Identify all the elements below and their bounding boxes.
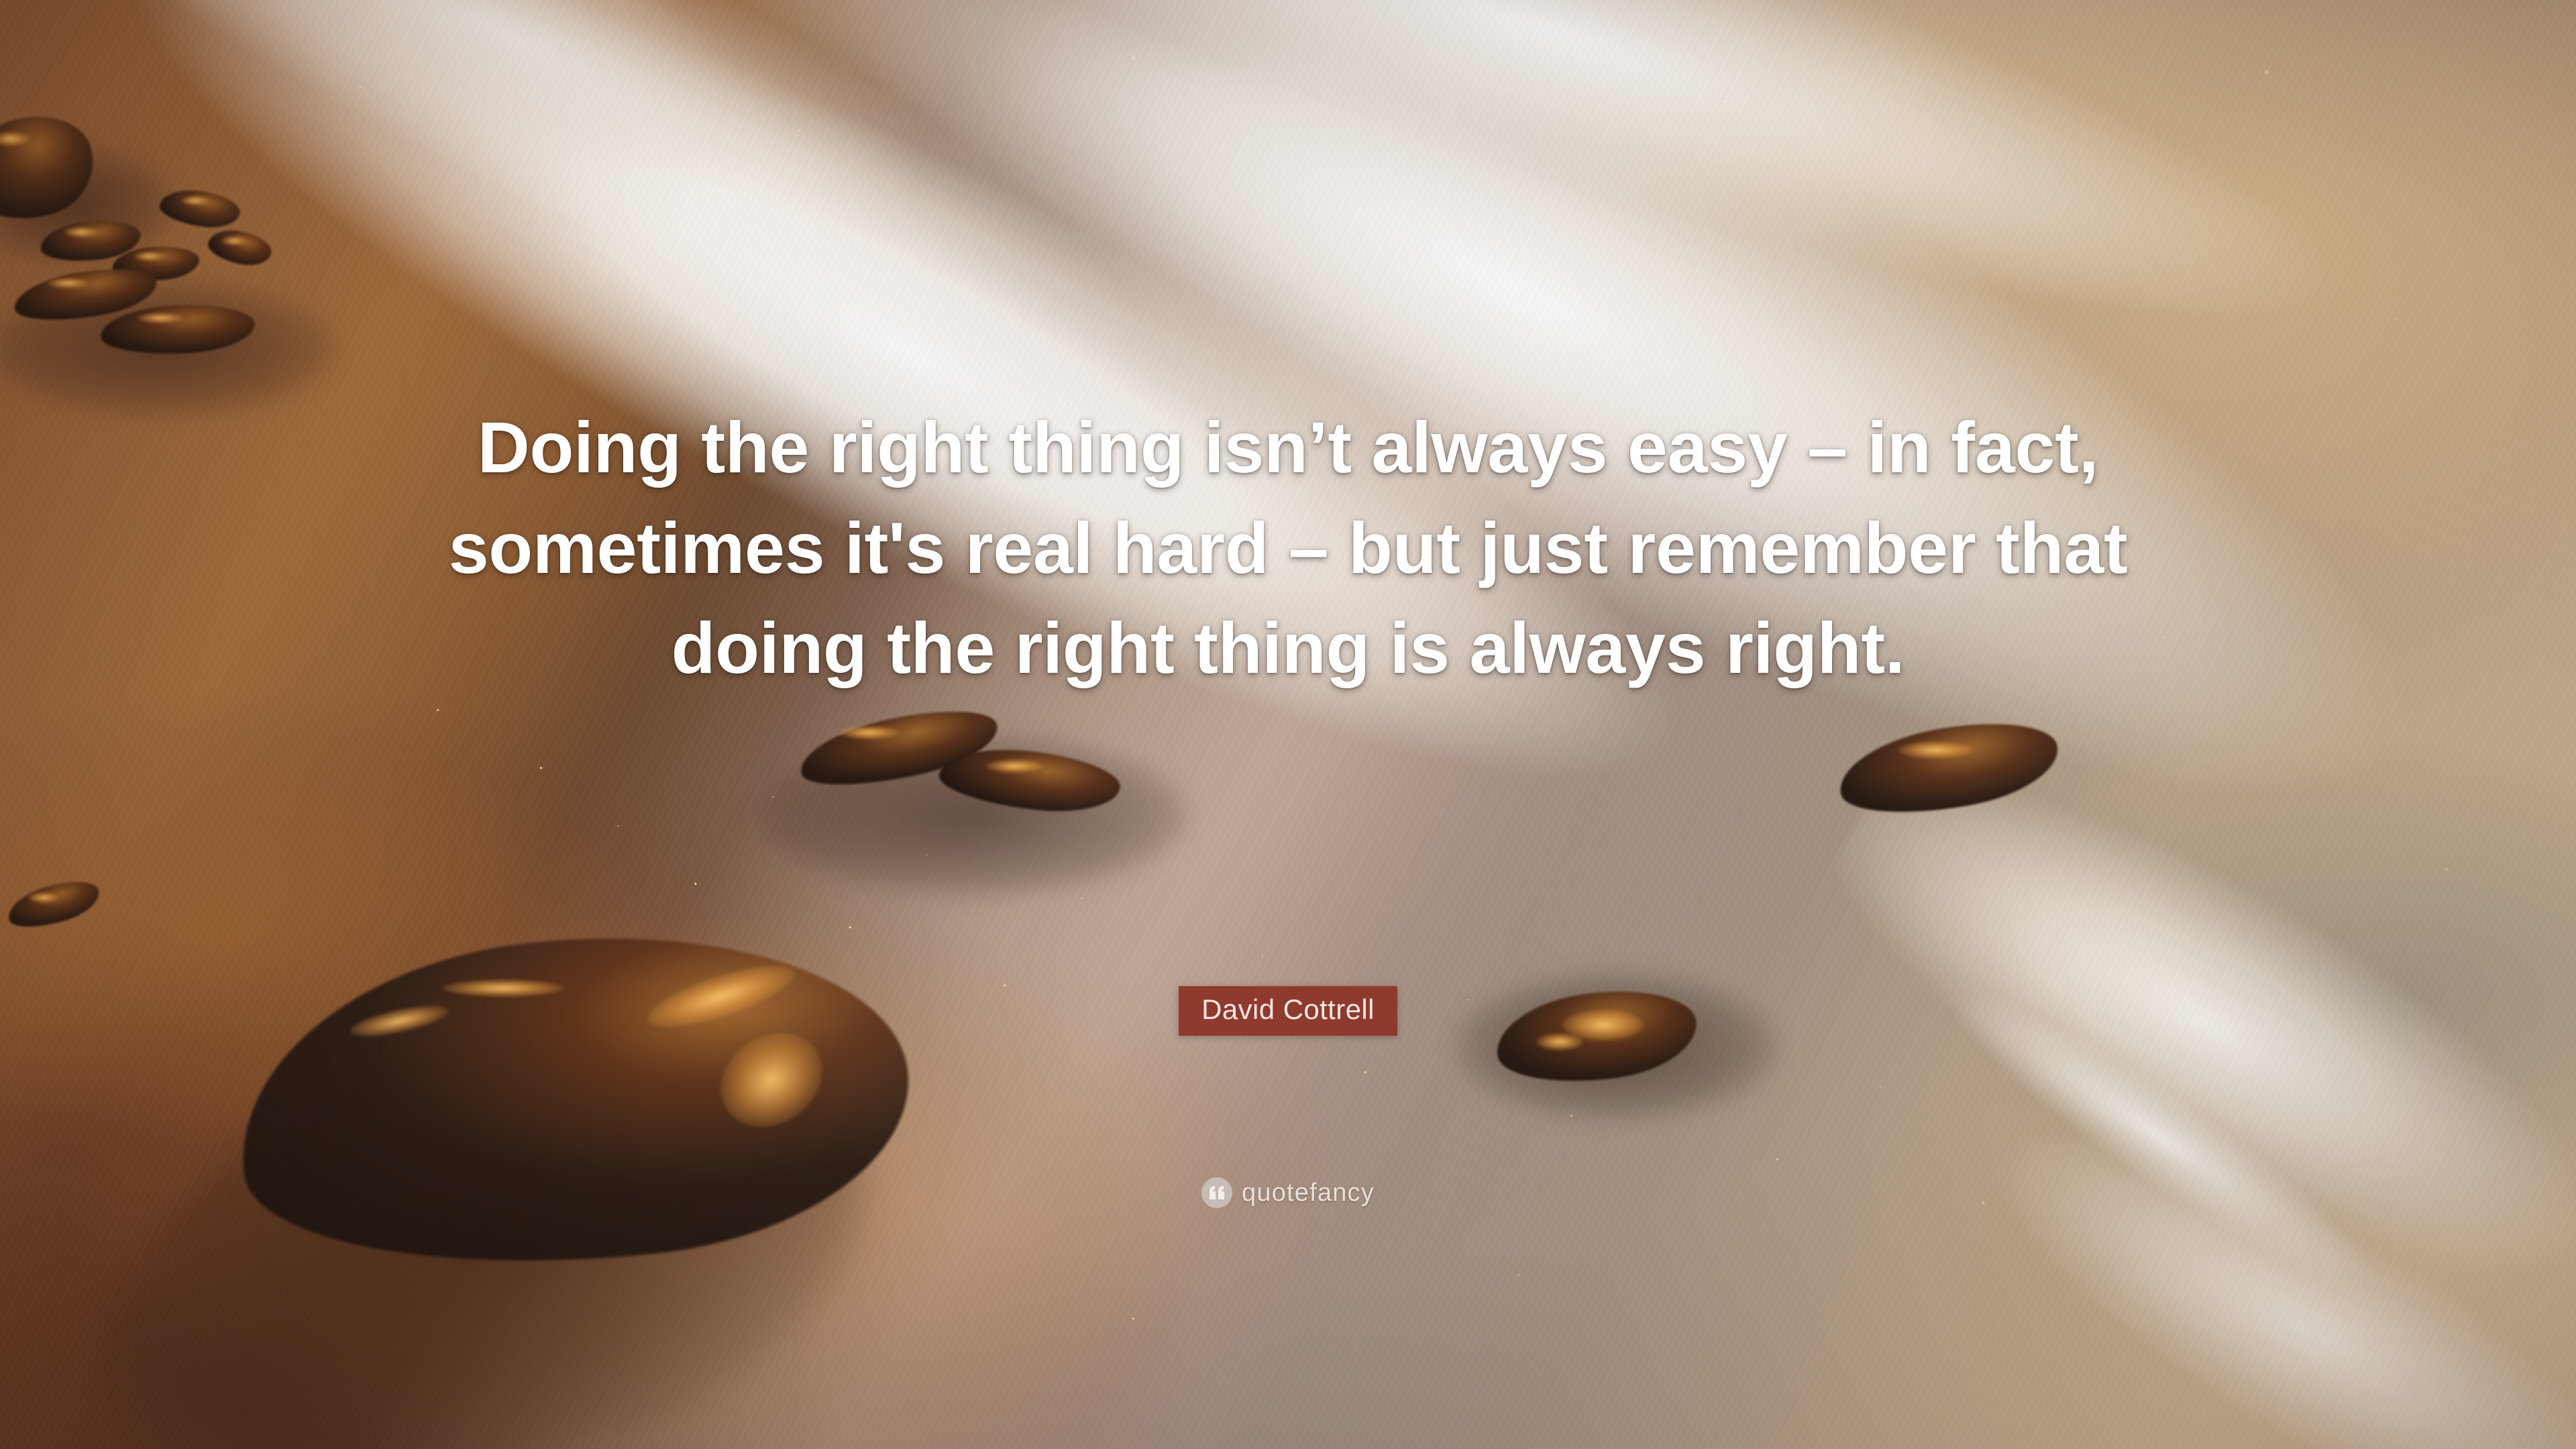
quote-mark-icon [1201, 1177, 1232, 1208]
kelp-highlight [134, 252, 164, 261]
kelp-highlight [181, 196, 209, 205]
quote-poster: Doing the right thing isn’t always easy … [0, 0, 2576, 1449]
kelp-highlight [1898, 741, 1972, 759]
author-attribution: David Cottrell [0, 986, 2576, 1036]
quote-text: Doing the right thing isn’t always easy … [429, 397, 2147, 698]
quotefancy-brand-text: quotefancy [1242, 1179, 1375, 1207]
kelp-highlight [64, 227, 98, 237]
kelp-highlight [47, 278, 89, 288]
quote-block: Doing the right thing isn’t always easy … [429, 397, 2147, 698]
kelp-highlight [839, 726, 899, 739]
quotefancy-watermark[interactable]: quotefancy [0, 1177, 2576, 1208]
author-name-badge[interactable]: David Cottrell [1179, 986, 1397, 1036]
kelp-highlight [221, 236, 247, 246]
kelp-highlight [986, 759, 1044, 773]
kelp-highlight [138, 313, 183, 323]
kelp-highlight [28, 892, 59, 903]
